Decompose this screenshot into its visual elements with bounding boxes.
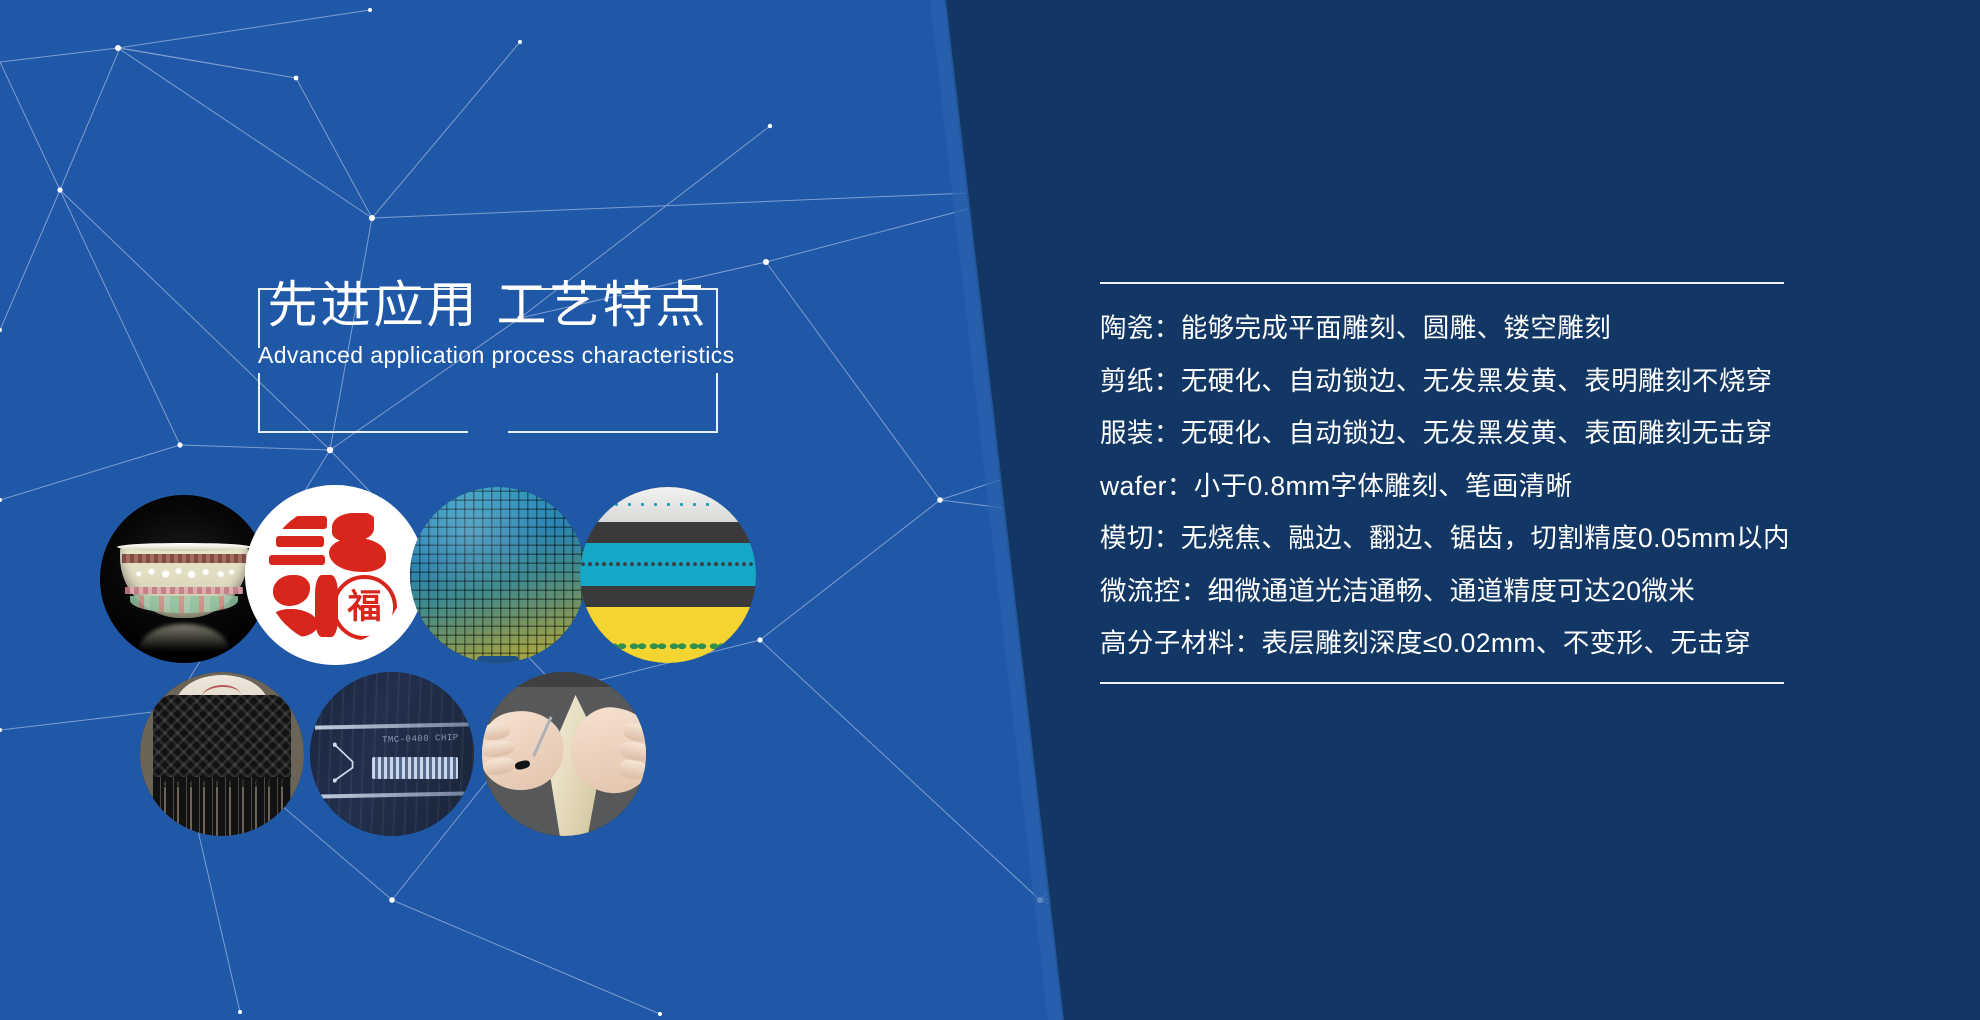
papercut-motif	[270, 516, 326, 529]
papercut-fu-character: 福	[332, 575, 397, 640]
spec-line: wafer：小于0.8mm字体雕刻、笔画清晰	[1100, 460, 1784, 513]
diecut-shapes-row-3	[580, 607, 756, 663]
diecut-band-dark-lower	[580, 586, 756, 607]
bowl-carved-glyphs	[130, 562, 238, 586]
spec-line: 服装：无硬化、自动锁边、无发黑发黄、表面雕刻无击穿	[1100, 407, 1784, 460]
poster-canvas: 先进应用 工艺特点 Advanced application process c…	[0, 0, 1980, 1020]
diecut-band-cyan	[580, 543, 756, 585]
diecut-band-dark-upper	[580, 522, 756, 543]
title-frame: 先进应用 工艺特点 Advanced application process c…	[258, 288, 718, 433]
finger	[482, 722, 511, 742]
wafer-sheen	[410, 487, 586, 663]
finger	[482, 739, 515, 759]
gallery-image-polymer-film[interactable]	[482, 672, 646, 836]
page-subtitle: Advanced application process characteris…	[258, 342, 718, 369]
papercut-motif	[332, 513, 374, 541]
papercut-motif	[270, 609, 318, 637]
gallery-image-die-cut-bands[interactable]	[580, 487, 756, 663]
spec-list-lines: 陶瓷：能够完成平面雕刻、圆雕、镂空雕刻 剪纸：无硬化、自动锁边、无发黑发黄、表明…	[1100, 284, 1784, 682]
frame-corner-bottom-left	[258, 373, 468, 433]
finger	[619, 740, 646, 762]
spec-line: 模切：无烧焦、融边、翻边、锯齿，切割精度0.05mm以内	[1100, 512, 1784, 565]
frame-corner-bottom-right	[508, 373, 718, 433]
spec-line: 微流控：细微通道光洁通畅、通道精度可达20微米	[1100, 565, 1784, 618]
diecut-band-white	[580, 487, 756, 522]
spec-list: 陶瓷：能够完成平面雕刻、圆雕、镂空雕刻 剪纸：无硬化、自动锁边、无发黑发黄、表明…	[1100, 282, 1784, 684]
gallery-image-silicon-wafer[interactable]	[410, 487, 586, 663]
diecut-notch	[710, 487, 745, 522]
diecut-dots-row-3	[580, 543, 756, 585]
papercut-motif	[329, 538, 385, 572]
spec-list-top-rule	[1100, 282, 1784, 284]
gallery-image-paper-cut[interactable]: 福	[245, 485, 425, 665]
spec-line: 高分子材料：表层雕刻深度≤0.02mm、不变形、无击穿	[1100, 617, 1784, 670]
page-title: 先进应用 工艺特点	[258, 274, 718, 337]
diecut-band-yellow	[580, 607, 756, 663]
finger	[483, 757, 516, 777]
chip-serpentine-channel	[372, 757, 457, 778]
bowl-middle-pattern-band	[125, 587, 243, 594]
wafer-notch-flat	[477, 656, 519, 663]
spec-list-bottom-rule	[1100, 682, 1784, 684]
chip-y-junction	[333, 738, 376, 787]
garment-fringe	[153, 777, 291, 836]
finger	[622, 722, 646, 744]
papercut-inner-artwork: 福	[265, 505, 405, 645]
papercut-motif	[276, 536, 324, 547]
finger	[617, 759, 646, 781]
gallery-image-ceramic-bowl[interactable]	[100, 495, 268, 663]
papercut-motif	[269, 555, 325, 565]
gallery-image-microfluidic-chip[interactable]: TMC-0400 CHIP	[310, 672, 474, 836]
gallery-image-fringed-garment[interactable]	[140, 672, 304, 836]
spec-line: 陶瓷：能够完成平面雕刻、圆雕、镂空雕刻	[1100, 302, 1784, 355]
film-top-shadow	[482, 672, 646, 687]
garment-laser-cut-body	[153, 695, 291, 787]
spec-line: 剪纸：无硬化、自动锁边、无发黑发黄、表明雕刻不烧穿	[1100, 355, 1784, 408]
papercut-motif	[273, 575, 310, 606]
